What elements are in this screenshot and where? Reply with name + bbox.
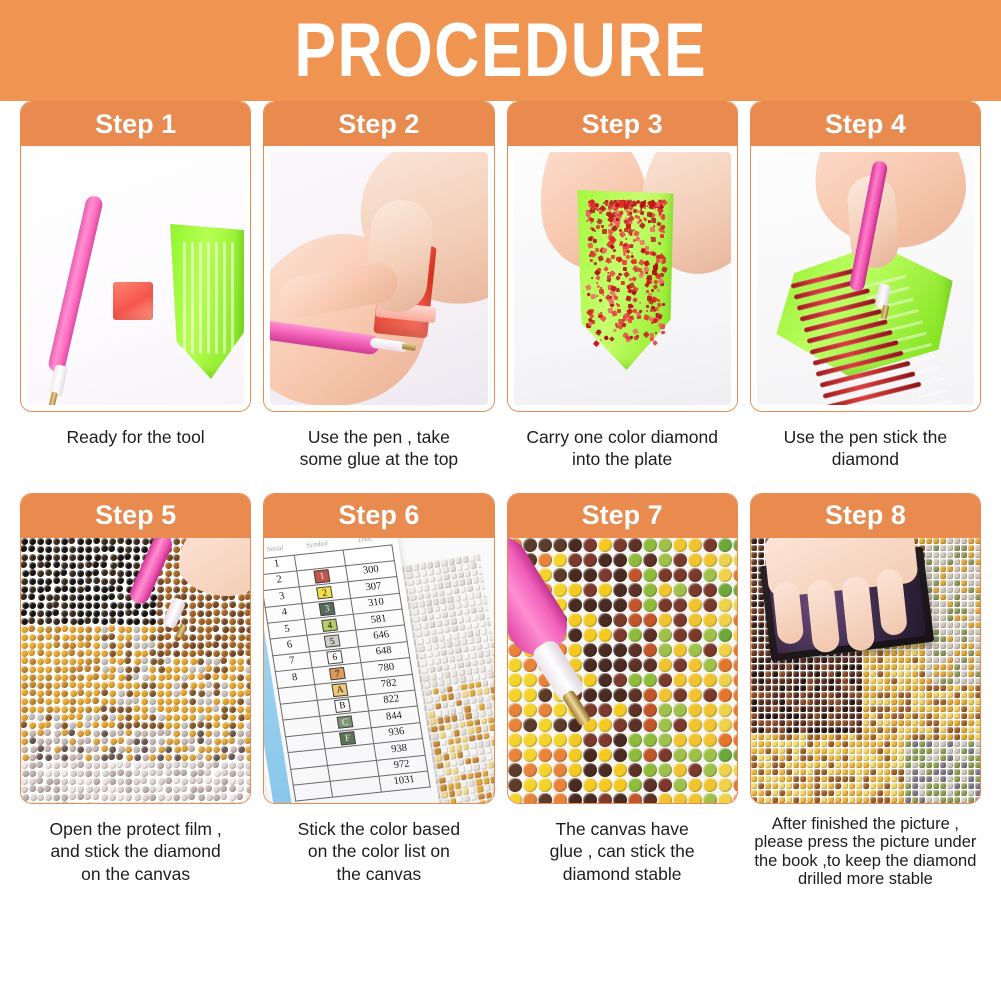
step-card-2-header: Step 2 [264,102,493,146]
chart-symbol-swatch: 5 [324,634,341,648]
step-cell-5: Step 5 Open the protect film , and stick… [14,493,257,889]
step-card-5-image [21,538,250,803]
steps-grid: Step 1 [0,101,1001,889]
chart-symbol-swatch: C [337,715,354,729]
step-card-8-header: Step 8 [751,494,980,538]
step-card-7-header: Step 7 [508,494,737,538]
step-cell-6: Step 6 SerialSymbolDMC121300323074331054… [257,493,500,889]
step-card-7-image [508,538,737,803]
step-caption-7: The canvas have glue , can stick the dia… [507,804,738,885]
step-cell-8: Step 8 [744,493,987,889]
step-card-4-header: Step 4 [751,102,980,146]
chart-symbol-swatch: 7 [329,666,346,680]
step-2-illustration [270,152,487,405]
chart-symbol-swatch: F [340,731,357,745]
step-card-7-title: Step 7 [582,502,663,529]
chart-symbol-swatch: 1 [314,569,331,583]
step-card-2[interactable]: Step 2 [263,101,494,412]
step-card-3-image [508,146,737,411]
step-cell-1: Step 1 [14,101,257,471]
step-caption-8: After finished the picture , please pres… [750,804,981,889]
step-caption-2: Use the pen , take some glue at the top [263,412,494,471]
step-8-illustration [751,538,980,803]
chart-symbol-swatch: 2 [316,585,333,599]
step-cell-7: Step 7 The canvas have glue , can stick … [501,493,744,889]
step-caption-1: Ready for the tool [20,412,251,448]
green-plate-icon [167,224,244,379]
step-card-5-title: Step 5 [95,502,176,529]
step-card-5[interactable]: Step 5 [20,493,251,804]
step-card-6-header: Step 6 [264,494,493,538]
step-card-2-title: Step 2 [338,111,419,138]
step-1-illustration [27,152,244,405]
step-card-3[interactable]: Step 3 [507,101,738,412]
step-card-1-image [21,146,250,411]
chart-symbol-swatch: A [332,683,349,697]
step-caption-4: Use the pen stick the diamond [750,412,981,471]
step-4-illustration [757,152,974,405]
chart-serial-cell [293,781,332,801]
step-card-1-header: Step 1 [21,102,250,146]
step-card-8-image [751,538,980,803]
step-card-8-title: Step 8 [825,502,906,529]
chart-symbol-swatch: B [334,699,351,713]
step-card-2-image [264,146,493,411]
page-header-banner: PROCEDURE [0,0,1001,101]
step-cell-2: Step 2 Use t [257,101,500,471]
chart-symbol-swatch: 4 [322,618,339,632]
step-caption-3: Carry one color diamond into the plate [507,412,738,471]
red-diamonds-group [586,200,664,342]
step-caption-5: Open the protect film , and stick the di… [20,804,251,885]
step-card-4-title: Step 4 [825,111,906,138]
step-card-6[interactable]: Step 6 SerialSymbolDMC121300323074331054… [263,493,494,804]
step-card-7[interactable]: Step 7 [507,493,738,804]
step-card-4-image [751,146,980,411]
steps-row-1: Step 1 [14,101,987,471]
chart-symbol-swatch: 6 [327,650,344,664]
step-5-illustration [21,538,250,803]
pink-pen-icon [47,194,104,373]
glue-square-icon [113,282,153,320]
page-title: PROCEDURE [294,13,707,89]
step-6-illustration: SerialSymbolDMC1213003230743310545816564… [264,538,493,803]
chart-symbol-swatch: 3 [319,602,336,616]
step-card-3-title: Step 3 [582,111,663,138]
step-cell-4: Step 4 U [744,101,987,471]
step-3-illustration [514,152,731,405]
step-card-1[interactable]: Step 1 [20,101,251,412]
step-cell-3: Step 3 Carry one color diamond into the … [501,101,744,471]
step-caption-6: Stick the color based on the color list … [263,804,494,885]
step-7-illustration [508,538,737,803]
step-card-4[interactable]: Step 4 [750,101,981,412]
step-card-3-header: Step 3 [508,102,737,146]
steps-row-2: Step 5 Open the protect film , and stick… [14,493,987,889]
step-card-8[interactable]: Step 8 [750,493,981,804]
step-card-6-title: Step 6 [338,502,419,529]
step-card-6-image: SerialSymbolDMC1213003230743310545816564… [264,538,493,803]
hands-icon [763,538,925,656]
step-card-5-header: Step 5 [21,494,250,538]
step-card-1-title: Step 1 [95,111,176,138]
